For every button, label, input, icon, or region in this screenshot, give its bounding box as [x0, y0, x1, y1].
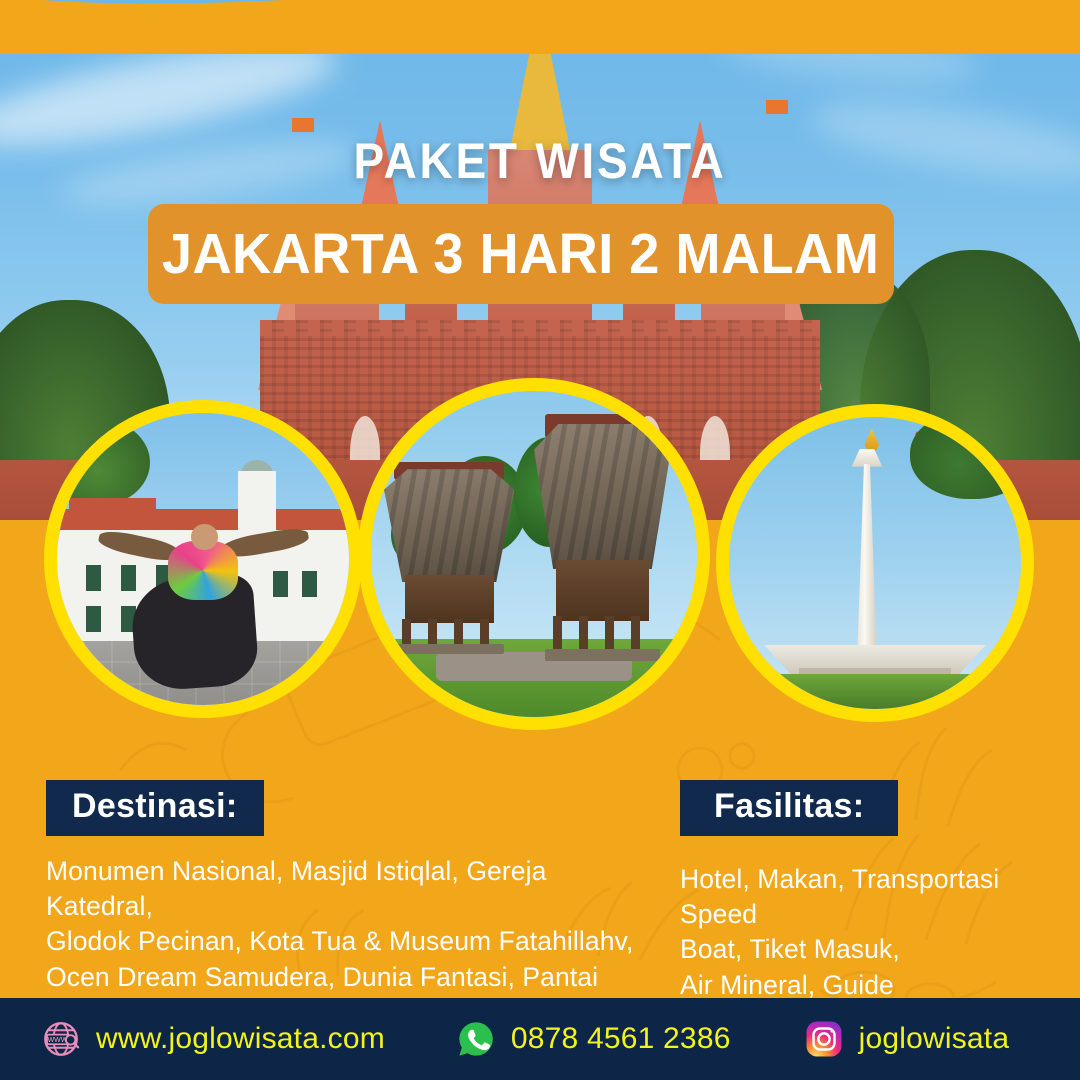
globe-www-icon: WWW: [40, 1018, 82, 1060]
website-text: www.joglowisata.com: [96, 1022, 385, 1056]
photo-gallery: [0, 378, 1080, 758]
contact-instagram[interactable]: joglowisata: [803, 1018, 1010, 1060]
gallery-photo-monas: [716, 404, 1034, 722]
page-kicker: PAKET WISATA: [43, 132, 1037, 190]
contact-website[interactable]: WWW www.joglowisata.com: [40, 1018, 385, 1060]
poster-root: PAKET WISATA JAKARTA 3 HARI 2 MALAM: [0, 0, 1080, 1080]
title-banner: JAKARTA 3 HARI 2 MALAM: [148, 204, 894, 304]
phone-text: 0878 4561 2386: [511, 1022, 731, 1056]
whatsapp-icon: [455, 1018, 497, 1060]
facilities-list: Hotel, Makan, Transportasi Speed Boat, T…: [680, 862, 1060, 1003]
facilities-column: Fasilitas: Hotel, Makan, Transportasi Sp…: [680, 780, 1060, 1003]
panel-top-curve: [0, 0, 1080, 54]
destinations-heading: Destinasi:: [46, 780, 264, 836]
gallery-photo-kota-tua-dancer: [44, 400, 362, 718]
flag: [292, 118, 314, 132]
contact-whatsapp[interactable]: 0878 4561 2386: [455, 1018, 731, 1060]
facilities-heading: Fasilitas:: [680, 780, 898, 836]
flag: [766, 100, 788, 114]
page-title: JAKARTA 3 HARI 2 MALAM: [162, 221, 879, 287]
svg-text:WWW: WWW: [48, 1037, 68, 1044]
contact-footer: WWW www.joglowisata.com 0878 4561 2386: [0, 998, 1080, 1080]
instagram-text: joglowisata: [859, 1022, 1010, 1056]
gallery-photo-tongkonan-tmii: [358, 378, 710, 730]
instagram-icon: [803, 1018, 845, 1060]
